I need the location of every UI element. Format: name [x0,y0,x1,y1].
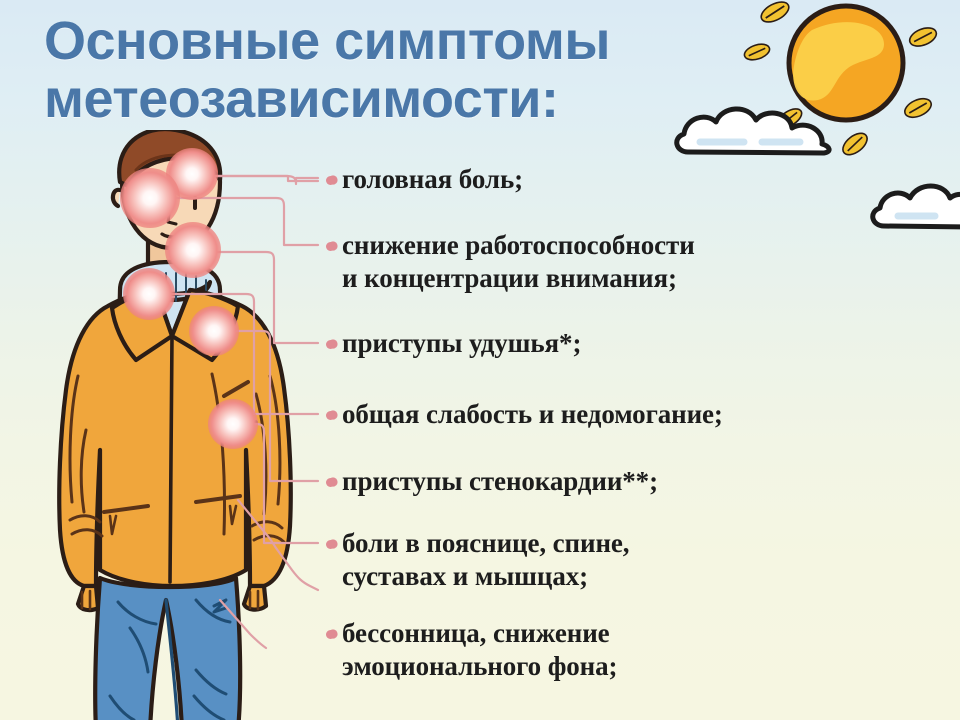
connector-weakness [166,294,318,414]
symptom-label: боли в пояснице, спине, суставах и мышца… [342,527,629,593]
symptom-item-performance: снижение работоспособности и концентраци… [326,229,695,295]
symptom-label: приступы стенокардии**; [342,465,658,498]
bullet-dot-icon [326,540,335,549]
pain-marker-shoulder [123,268,175,320]
symptom-label: приступы удушья*; [342,327,581,360]
bullet-dot-icon [326,411,335,420]
bullet-dot-icon [326,478,335,487]
symptom-item-suffocation: приступы удушья*; [326,327,581,360]
symptom-item-weakness: общая слабость и недомогание; [326,398,723,431]
symptom-label: общая слабость и недомогание; [342,398,723,431]
connector-insomnia-upper [238,500,318,590]
bullet-dot-icon [326,630,335,639]
bullet-dot-icon [326,340,335,349]
symptom-item-headache: головная боль; [326,163,523,196]
infographic-poster: Основные симптомы метеозависимости: [0,0,960,720]
symptom-item-insomnia: бессонница, снижение эмоционального фона… [326,617,617,683]
symptom-item-back-pain: боли в пояснице, спине, суставах и мышца… [326,527,629,593]
pain-marker-chest [189,306,239,356]
bullet-dot-icon [326,242,335,251]
symptom-label: снижение работоспособности и концентраци… [342,229,695,295]
symptom-label: бессонница, снижение эмоционального фона… [342,617,617,683]
connector-insomnia-lower [220,600,266,648]
pain-marker-throat [165,222,221,278]
bullet-dot-icon [326,176,335,185]
symptom-item-angina: приступы стенокардии**; [326,465,658,498]
symptom-label: головная боль; [342,163,523,196]
connector-back-pain [250,424,318,543]
pain-marker-waist [208,399,258,449]
pain-marker-temple [120,168,180,228]
